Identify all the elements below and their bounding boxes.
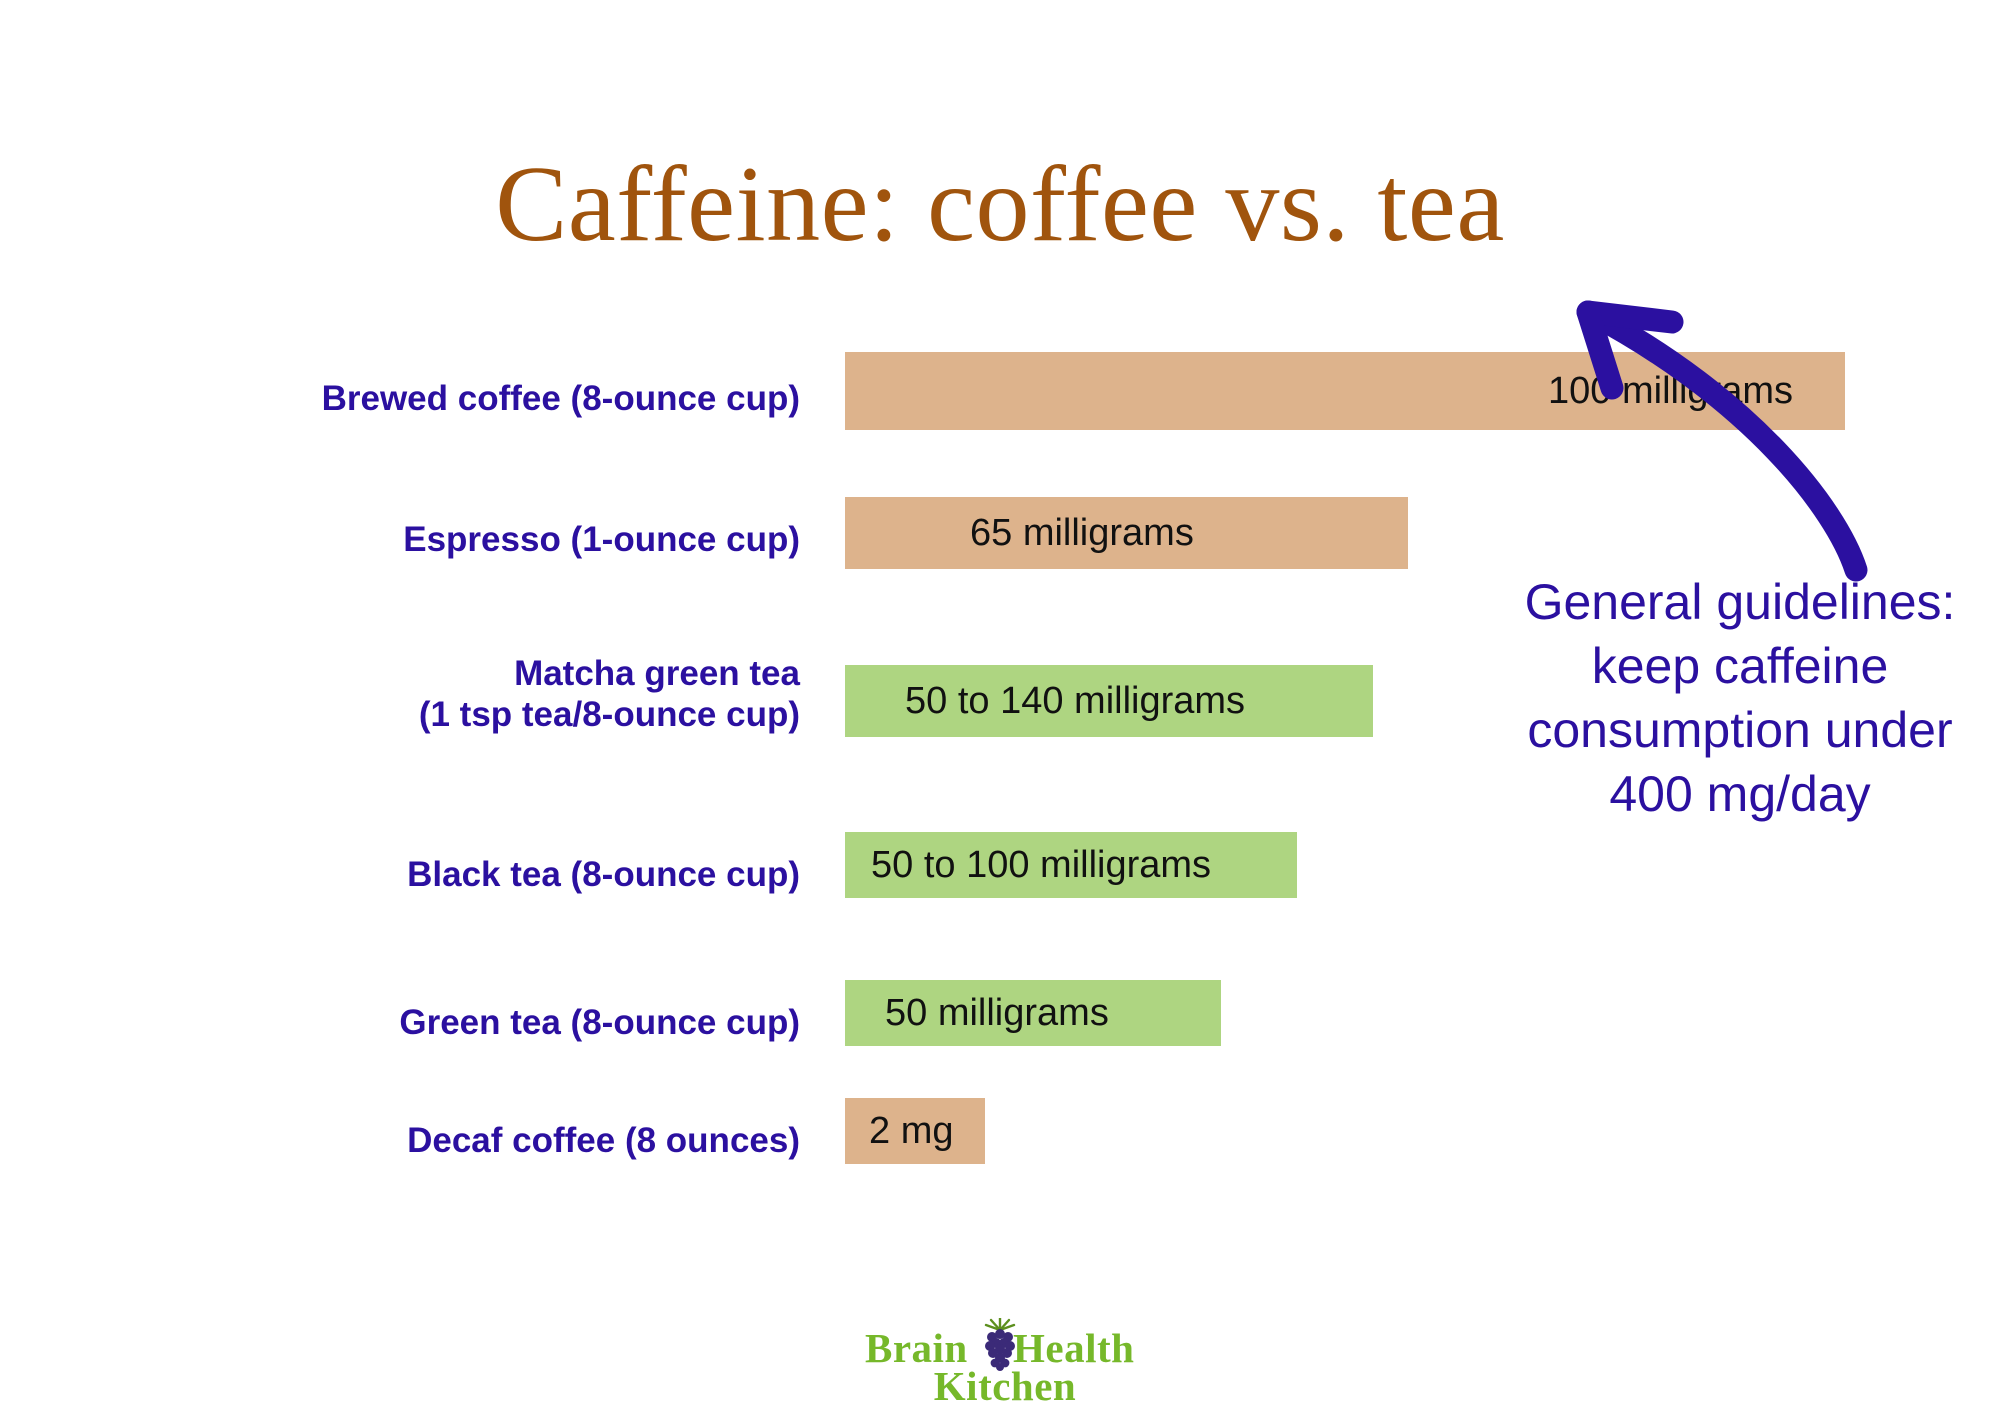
bar-black-tea: 50 to 100 milligrams xyxy=(845,832,1297,898)
bar-green-tea: 50 milligrams xyxy=(845,980,1221,1046)
bar-value-espresso: 65 milligrams xyxy=(970,512,1194,555)
bar-decaf: 2 mg xyxy=(845,1098,985,1164)
bar-espresso: 65 milligrams xyxy=(845,497,1408,569)
row-label-decaf: Decaf coffee (8 ounces) xyxy=(140,1120,800,1161)
row-label-brewed-coffee: Brewed coffee (8-ounce cup) xyxy=(140,378,800,419)
brand-logo: Brain xyxy=(855,1318,1155,1418)
bar-value-decaf: 2 mg xyxy=(869,1110,953,1153)
bar-value-brewed-coffee: 100 milligrams xyxy=(1548,370,1793,413)
row-label-espresso: Espresso (1-ounce cup) xyxy=(140,519,800,560)
row-label-matcha-line1: Matcha green tea xyxy=(140,653,800,694)
guideline-note: General guidelines: keep caffeine consum… xyxy=(1520,570,1960,826)
logo-line2: Kitchen xyxy=(855,1362,1155,1410)
row-label-black-tea: Black tea (8-ounce cup) xyxy=(140,854,800,895)
infographic-canvas: Caffeine: coffee vs. tea Brewed coffee (… xyxy=(0,0,2000,1428)
bar-value-green-tea: 50 milligrams xyxy=(885,992,1109,1035)
row-label-matcha-line2: (1 tsp tea/8-ounce cup) xyxy=(140,694,800,735)
bar-value-black-tea: 50 to 100 milligrams xyxy=(871,844,1211,887)
row-label-matcha: Matcha green tea (1 tsp tea/8-ounce cup) xyxy=(140,653,800,736)
row-label-green-tea: Green tea (8-ounce cup) xyxy=(140,1002,800,1043)
bar-matcha: 50 to 140 milligrams xyxy=(845,665,1373,737)
bar-brewed-coffee: 100 milligrams xyxy=(845,352,1845,430)
bar-value-matcha: 50 to 140 milligrams xyxy=(905,680,1245,723)
